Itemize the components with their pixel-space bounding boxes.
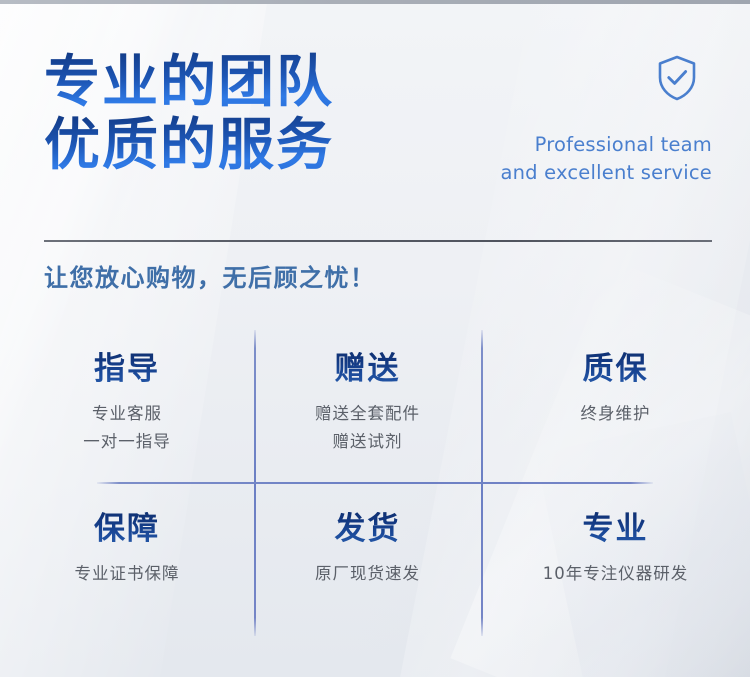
top-accent-strip	[0, 0, 750, 4]
hero-title-line-2: 优质的服务	[44, 115, 334, 178]
hero-english-tagline: Professional team and excellent service	[452, 131, 712, 186]
hero-english-line-2: and excellent service	[452, 159, 712, 187]
feature-line: 终身维护	[481, 400, 750, 428]
feature-cell-guidance: 指导 专业客服 一对一指导	[0, 352, 254, 457]
grid-horizontal-divider	[97, 482, 653, 484]
hero-title-line-1: 专业的团队	[44, 52, 334, 115]
feature-title: 赠送	[254, 352, 481, 386]
subtitle-text: 让您放心购物，无后顾之忧！	[44, 258, 376, 293]
feature-cell-assurance: 保障 专业证书保障	[0, 512, 254, 588]
feature-line: 10年专注仪器研发	[481, 560, 750, 588]
feature-cell-warranty: 质保 终身维护	[481, 352, 750, 428]
hero-divider	[44, 240, 712, 242]
promo-banner: 专业的团队 优质的服务 Professional team and excell…	[0, 0, 750, 677]
feature-line: 赠送试剂	[254, 428, 481, 456]
feature-line: 原厂现货速发	[254, 560, 481, 588]
feature-line: 专业客服	[0, 400, 254, 428]
shield-check-icon	[452, 54, 698, 107]
feature-line: 专业证书保障	[0, 560, 254, 588]
feature-title: 保障	[0, 512, 254, 546]
hero-right-block: Professional team and excellent service	[452, 54, 712, 186]
feature-description: 原厂现货速发	[254, 560, 481, 588]
hero-title: 专业的团队 优质的服务	[44, 52, 334, 177]
feature-description: 专业证书保障	[0, 560, 254, 588]
hero-section: 专业的团队 优质的服务 Professional team and excell…	[0, 52, 750, 222]
hero-english-line-1: Professional team	[452, 131, 712, 159]
feature-grid: 指导 专业客服 一对一指导 赠送 赠送全套配件 赠送试剂 质保 终身维护 保障 …	[0, 330, 750, 636]
feature-description: 赠送全套配件 赠送试剂	[254, 400, 481, 457]
feature-title: 专业	[481, 512, 750, 546]
feature-cell-gift: 赠送 赠送全套配件 赠送试剂	[254, 352, 481, 457]
feature-title: 发货	[254, 512, 481, 546]
feature-description: 终身维护	[481, 400, 750, 428]
feature-description: 10年专注仪器研发	[481, 560, 750, 588]
feature-description: 专业客服 一对一指导	[0, 400, 254, 457]
feature-cell-expertise: 专业 10年专注仪器研发	[481, 512, 750, 588]
feature-title: 质保	[481, 352, 750, 386]
feature-cell-shipping: 发货 原厂现货速发	[254, 512, 481, 588]
feature-line: 一对一指导	[0, 428, 254, 456]
feature-line: 赠送全套配件	[254, 400, 481, 428]
feature-title: 指导	[0, 352, 254, 386]
